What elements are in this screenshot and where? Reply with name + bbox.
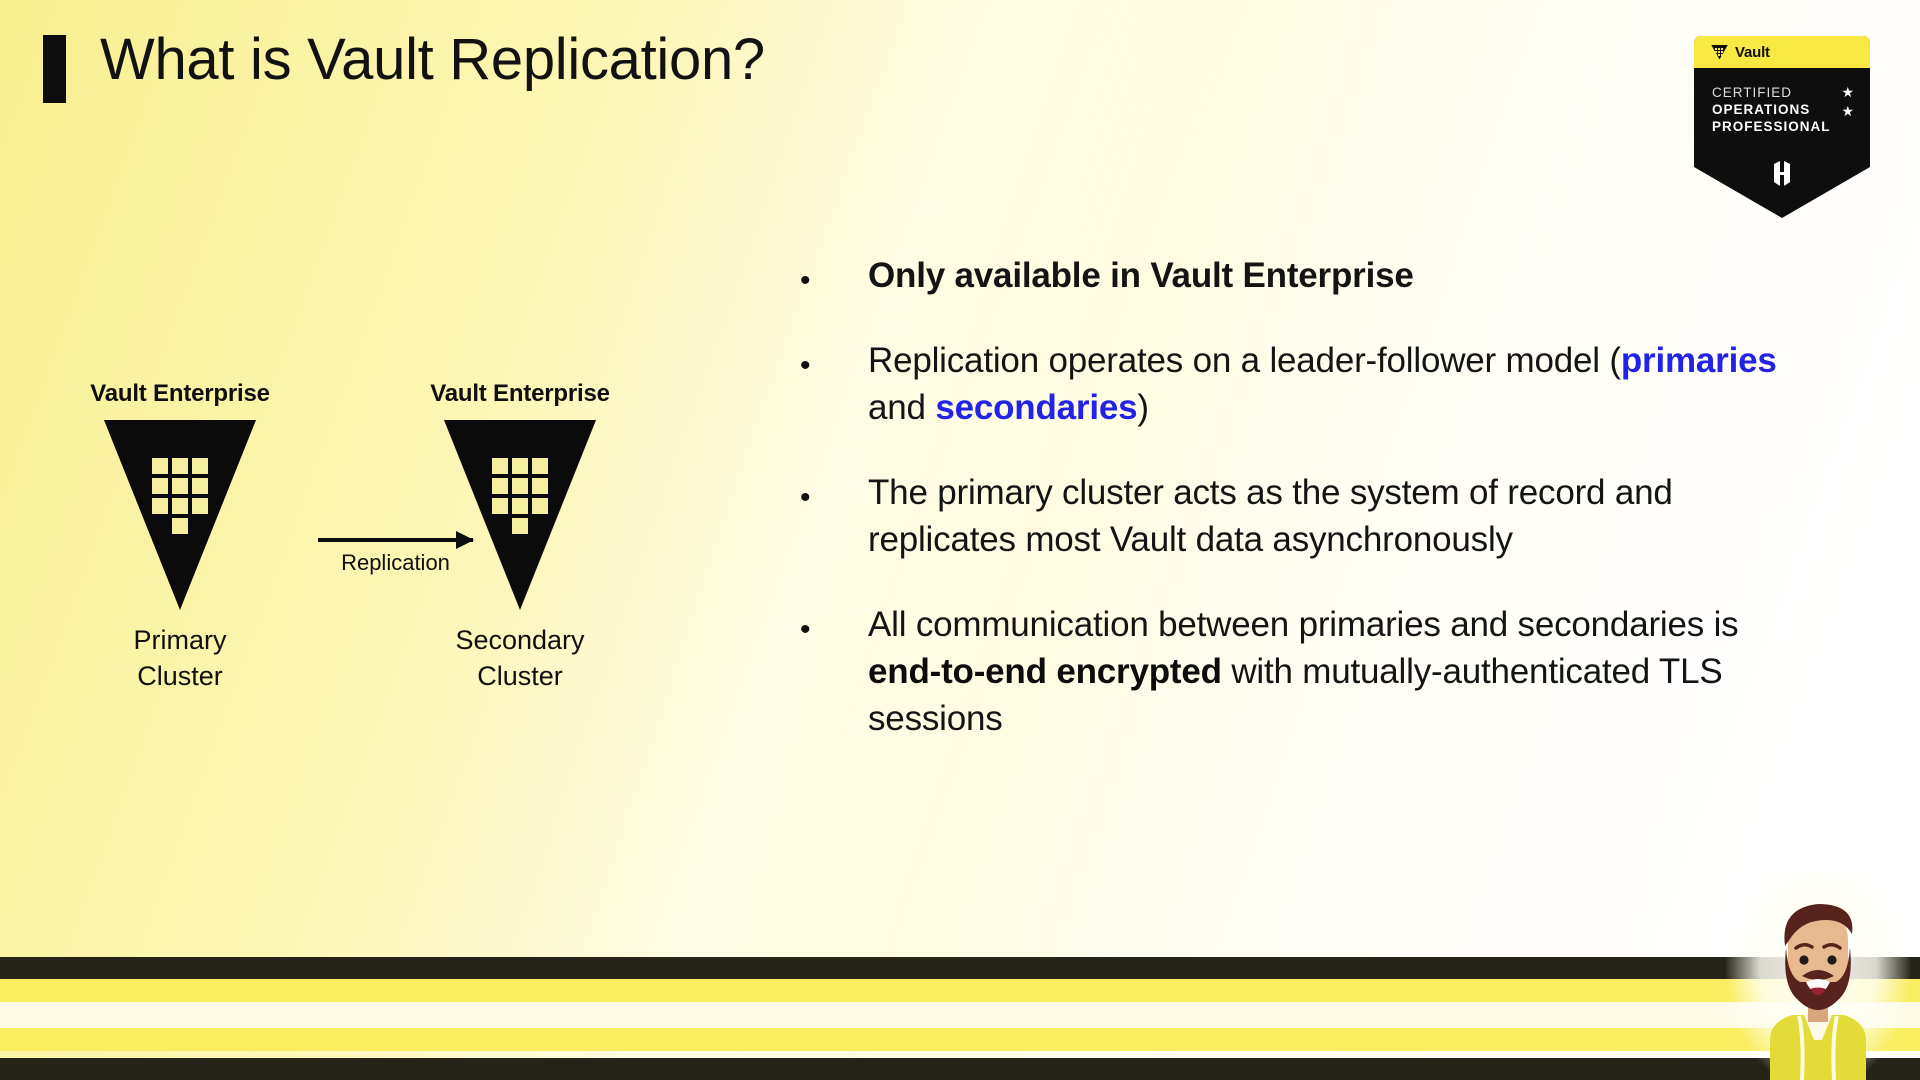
bullet-text-run: All communication between primaries and … — [868, 605, 1738, 644]
replication-diagram: Vault Enterprise Primary Cluster Replica… — [0, 380, 790, 800]
badge-brand-label: Vault — [1735, 44, 1770, 61]
badge-stars: ★ ★ — [1841, 84, 1854, 119]
secondary-cluster-label: Secondary Cluster — [395, 622, 645, 694]
bullet-marker-icon: • — [800, 337, 868, 381]
primary-cluster-caption: Vault Enterprise — [55, 380, 305, 408]
primary-cluster-group: Vault Enterprise Primary Cluster — [55, 380, 305, 694]
bullet-text: The primary cluster acts as the system o… — [868, 469, 1820, 563]
slide-canvas: What is Vault Replication? Vault CERTIFI… — [0, 0, 1920, 1080]
footer-bar-dark-top — [0, 957, 1920, 979]
bullet-text-run: and — [868, 388, 935, 427]
footer-bar-yellow-upper — [0, 979, 1920, 1002]
bullet-highlight-blue: primaries — [1621, 341, 1777, 380]
bullet-text: All communication between primaries and … — [868, 601, 1820, 742]
primary-cluster-label-line2: Cluster — [55, 658, 305, 694]
badge-line-operations: OPERATIONS — [1712, 101, 1831, 118]
vault-logo-icon — [104, 420, 256, 610]
bullet-marker-icon: • — [800, 469, 868, 513]
bullet-item: •Only available in Vault Enterprise — [800, 252, 1820, 299]
bullet-text-run: The primary cluster acts as the system o… — [868, 473, 1673, 559]
certification-badge: Vault CERTIFIED OPERATIONS PROFESSIONAL … — [1694, 36, 1870, 218]
bullet-text: Replication operates on a leader-followe… — [868, 337, 1820, 431]
bullet-item: •Replication operates on a leader-follow… — [800, 337, 1820, 431]
footer-bar-yellow-lower — [0, 1028, 1920, 1051]
vault-logo-icon — [1711, 45, 1728, 60]
bullet-item: •The primary cluster acts as the system … — [800, 469, 1820, 563]
bullet-highlight-blue: secondaries — [935, 388, 1137, 427]
star-icon: ★ — [1841, 103, 1854, 119]
vault-logo-icon — [444, 420, 596, 610]
avatar-illustration — [1752, 890, 1884, 1080]
badge-title-lines: CERTIFIED OPERATIONS PROFESSIONAL — [1712, 84, 1831, 135]
bullet-text-run: Only available in Vault Enterprise — [868, 256, 1414, 295]
secondary-cluster-label-line1: Secondary — [395, 622, 645, 658]
footer-bar-cream — [0, 1002, 1920, 1028]
footer-bars — [0, 957, 1920, 1080]
secondary-cluster-caption: Vault Enterprise — [395, 380, 645, 408]
bullet-text-run: Replication operates on a leader-followe… — [868, 341, 1621, 380]
presenter-avatar — [1752, 890, 1884, 1080]
page-title: What is Vault Replication? — [100, 26, 765, 93]
bullet-list: •Only available in Vault Enterprise•Repl… — [800, 252, 1820, 780]
badge-line-professional: PROFESSIONAL — [1712, 118, 1831, 135]
secondary-cluster-group: Vault Enterprise Secondary Cluster — [395, 380, 645, 694]
hashicorp-logo-icon — [1769, 160, 1795, 190]
bullet-highlight-bold: end-to-end encrypted — [868, 652, 1222, 691]
footer-bar-gap — [0, 1051, 1920, 1058]
footer-bar-dark-bottom — [0, 1058, 1920, 1080]
primary-cluster-label: Primary Cluster — [55, 622, 305, 694]
star-icon: ★ — [1841, 84, 1854, 100]
title-accent-bar — [43, 35, 66, 103]
secondary-cluster-label-line2: Cluster — [395, 658, 645, 694]
bullet-marker-icon: • — [800, 252, 868, 296]
bullet-item: •All communication between primaries and… — [800, 601, 1820, 742]
badge-header: Vault — [1694, 36, 1870, 68]
bullet-text-run: ) — [1137, 388, 1148, 427]
bullet-text: Only available in Vault Enterprise — [868, 252, 1820, 299]
bullet-marker-icon: • — [800, 601, 868, 645]
primary-cluster-label-line1: Primary — [55, 622, 305, 658]
badge-line-certified: CERTIFIED — [1712, 84, 1831, 101]
